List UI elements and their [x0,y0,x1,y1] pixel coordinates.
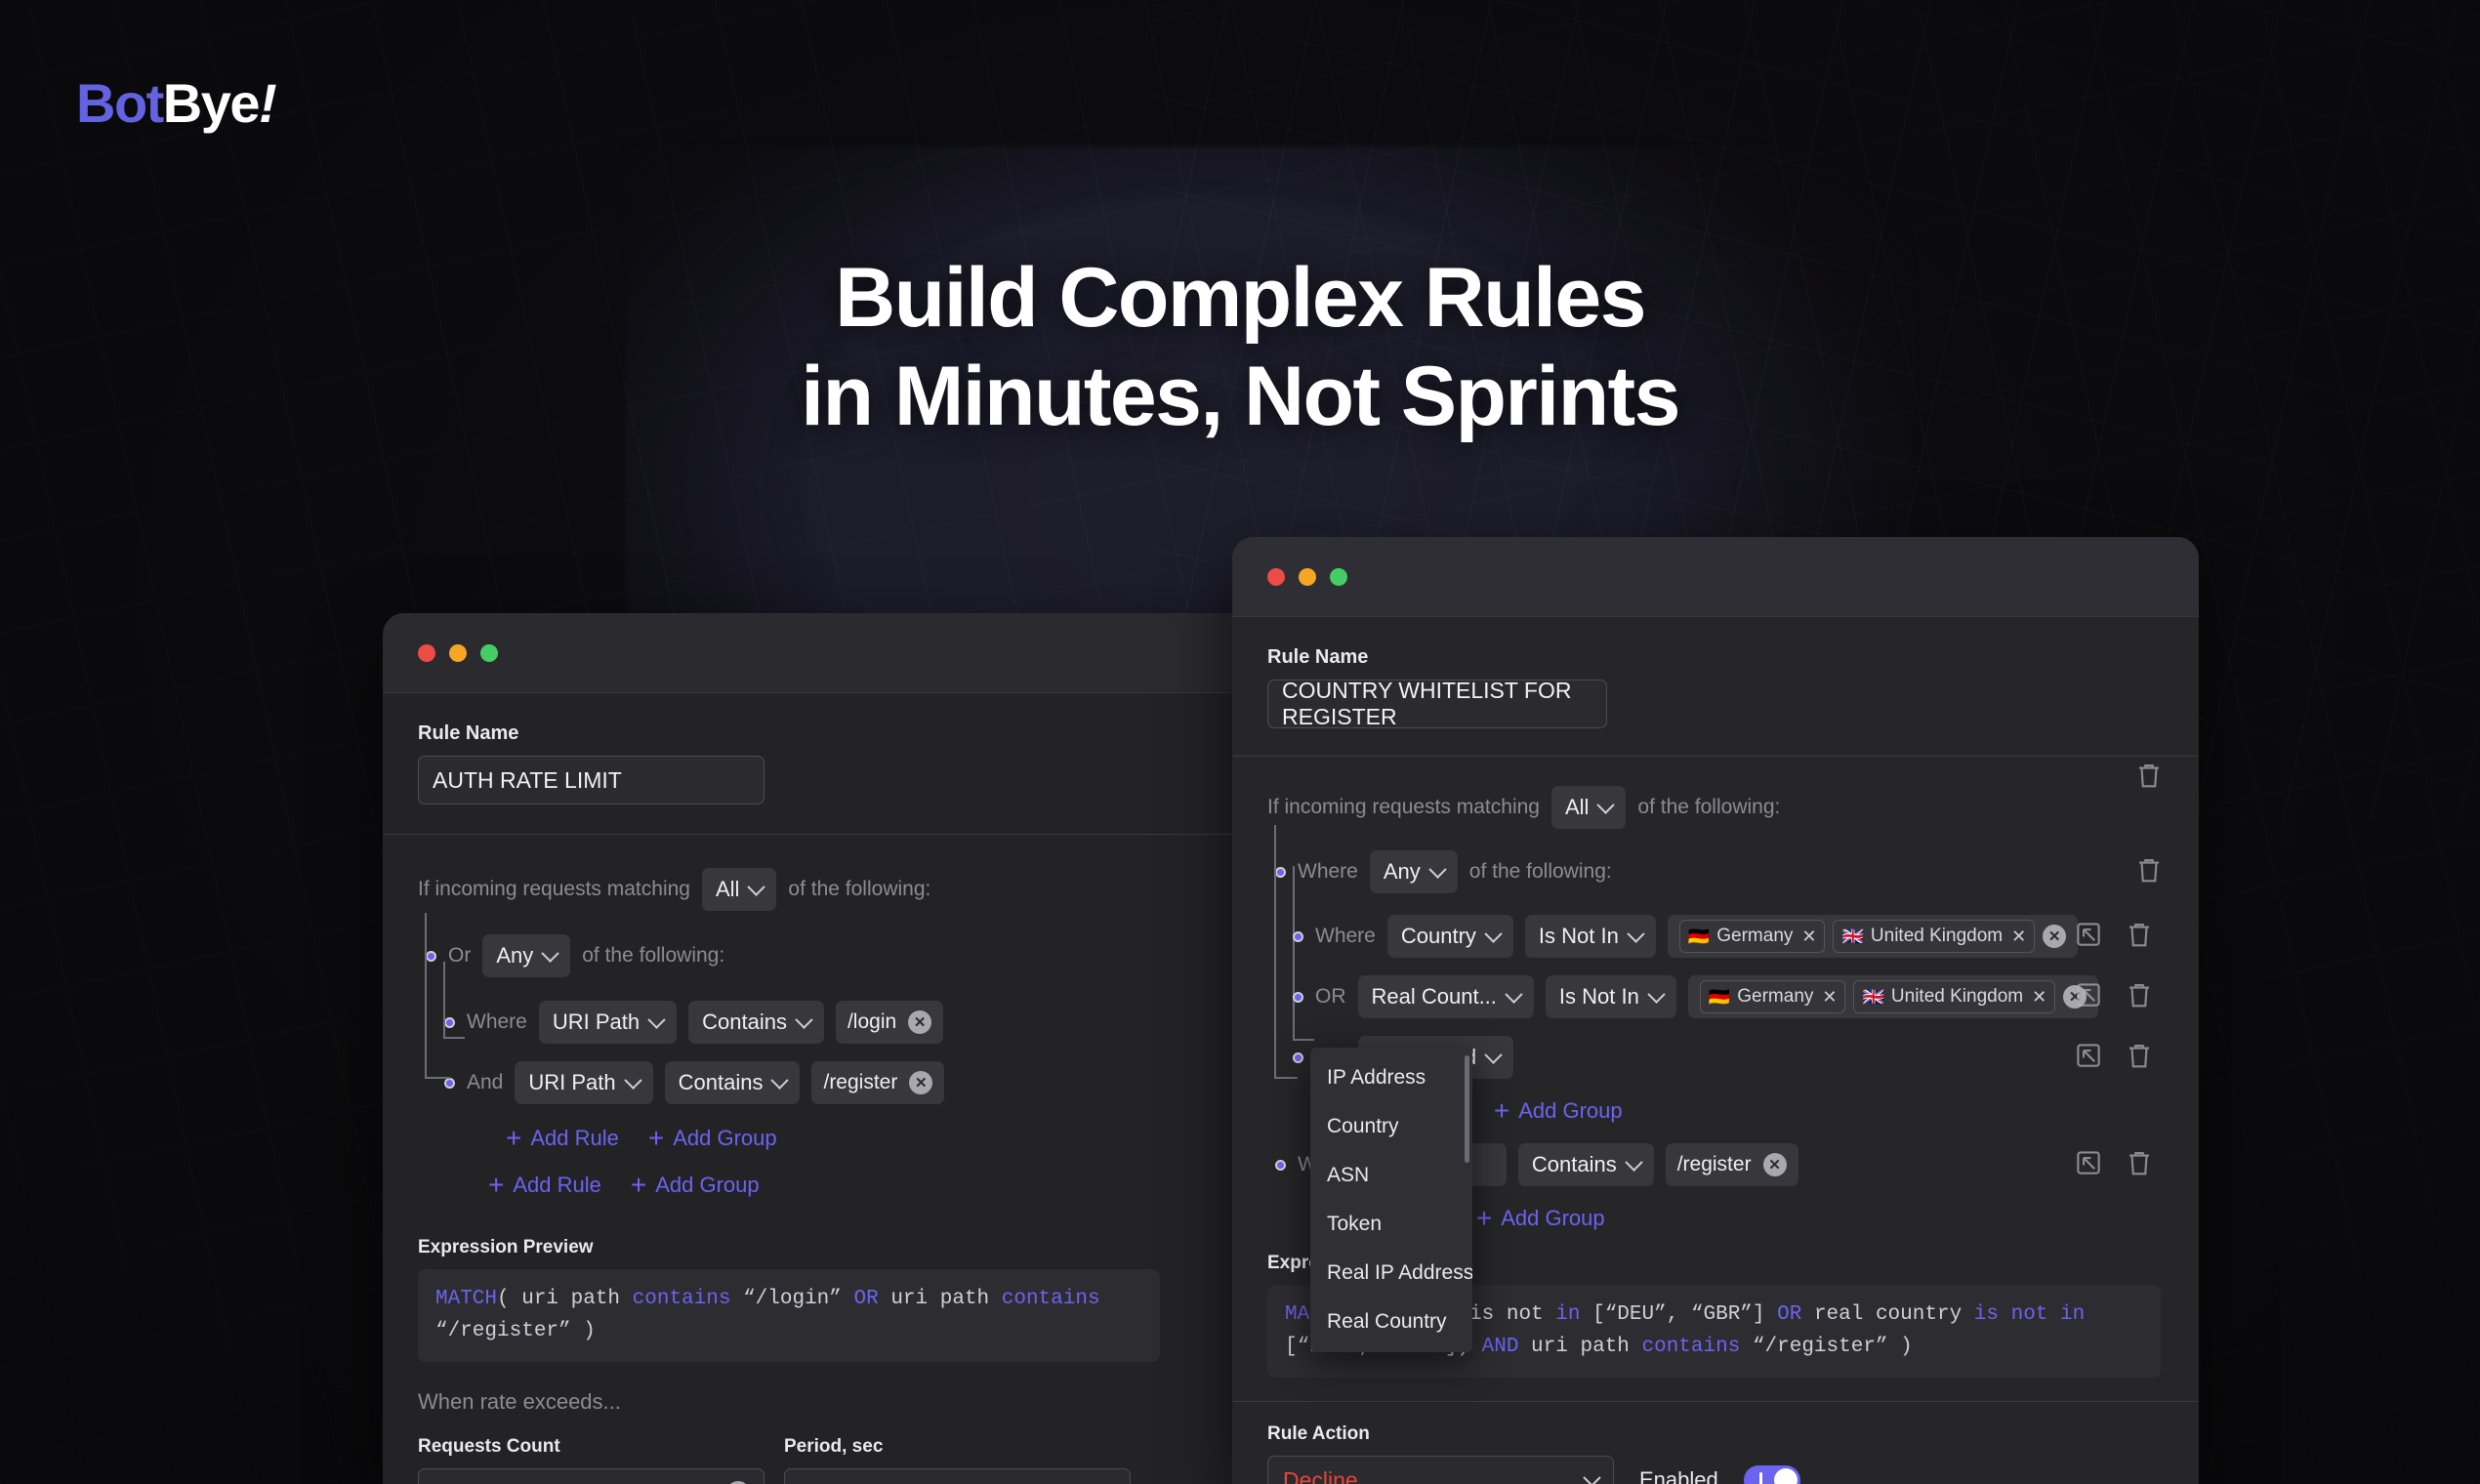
right-group-suffix: of the following: [1469,860,1612,884]
chevron-down-icon [1583,1468,1600,1484]
hero-line-1: Build Complex Rules [0,249,2480,348]
right-group-add-group-button[interactable]: + Add Group [1494,1098,1623,1124]
right-rule-action-select[interactable]: Decline [1267,1456,1614,1484]
left-requests-count-value: 5 [433,1480,445,1484]
right-enabled-label: Enabled [1639,1467,1718,1484]
chevron-down-icon [1625,1153,1642,1171]
left-rule-name-label: Rule Name [418,722,1324,745]
left-group-operator-value: Any [496,943,533,969]
expression-token: “/register” ) [1740,1336,1912,1358]
right-condition-row-1: OR Real Count... Is Not In 🇩🇪 Germany [1293,975,2164,1018]
plus-icon: + [506,1128,521,1149]
right-condition-row-0: Where Country Is Not In 🇩🇪 Germany ✕ [1293,915,2164,958]
expression-token: [“DEU”, “GBR”] [1580,1303,1777,1326]
left-condition-field-value: URI Path [528,1070,615,1095]
right-root-add-group-label: Add Group [1501,1206,1604,1231]
left-tree-root-line [425,913,427,1079]
chevron-down-icon [1484,925,1502,942]
expression-token: uri path [879,1288,1002,1310]
country-chip[interactable]: 🇬🇧 United Kingdom ✕ [1833,920,2035,953]
chevron-down-icon [1428,860,1446,878]
expression-token: contains [1641,1336,1740,1358]
left-window-body: Rule Name AUTH RATE LIMIT If incoming re… [383,693,1359,1484]
country-chip[interactable]: 🇩🇪 Germany ✕ [1679,920,1826,953]
left-condition-field-value: URI Path [553,1010,640,1035]
plus-icon: + [631,1175,646,1196]
right-rule-name-label: Rule Name [1267,646,2164,669]
window-minimize-dot[interactable] [1299,568,1316,586]
left-root-add-rule-button[interactable]: + Add Rule [488,1173,601,1198]
right-group-bullet [1275,867,1286,878]
left-tree-nested-elbow [443,1037,465,1039]
left-requests-count-input[interactable]: 5 ✕ [418,1468,765,1484]
right-outer-bullet [1275,1160,1286,1171]
remove-chip-icon[interactable]: ✕ [2032,987,2046,1008]
country-chip[interactable]: 🇬🇧 United Kingdom ✕ [1853,980,2055,1013]
right-condition-bullet [1293,992,1303,1003]
right-condition-operator-select[interactable]: Is Not In [1525,915,1656,958]
chevron-down-icon [1484,1046,1502,1063]
field-option-asn[interactable]: ASN [1310,1151,1472,1200]
right-condition-chips-box[interactable]: 🇩🇪 Germany ✕ 🇬🇧 United Kingdom ✕ ✕ [1668,915,2078,958]
left-condition-bullet [444,1078,455,1089]
right-group-operator-select[interactable]: Any [1370,850,1458,893]
left-matching-value: All [716,877,739,902]
plus-icon: + [1476,1208,1492,1229]
hero-title: Build Complex Rules in Minutes, Not Spri… [0,249,2480,445]
left-condition-row-1: And URI Path Contains /register ✕ [444,1061,1324,1104]
right-rule-name-input[interactable]: COUNTRY WHITELIST FOR REGISTER [1267,680,1607,728]
left-condition-value-box[interactable]: /login ✕ [836,1001,943,1044]
left-rate-heading: When rate exceeds... [418,1389,1324,1415]
left-rule-builder: If incoming requests matching All of the… [383,835,1359,1198]
chevron-down-icon [748,878,765,895]
right-outer-value-box[interactable]: /register ✕ [1666,1143,1798,1186]
left-group-add-rule-label: Add Rule [530,1126,619,1151]
trash-icon[interactable] [2125,980,2154,1010]
left-period-field: Period, sec 10 [784,1436,1131,1484]
left-period-label: Period, sec [784,1436,1131,1458]
right-condition-operator-value: Is Not In [1539,924,1619,949]
left-condition-field-select[interactable]: URI Path [539,1001,677,1044]
right-enabled-toggle[interactable] [1744,1465,1800,1484]
left-condition-field-select[interactable]: URI Path [515,1061,652,1104]
clear-icon[interactable]: ✕ [2043,925,2066,948]
left-group-suffix: of the following: [582,944,724,968]
trash-icon[interactable] [2125,920,2154,949]
left-root-add-group-button[interactable]: + Add Group [631,1173,760,1198]
right-rule-action-label: Rule Action [1267,1423,2164,1445]
right-outer-operator-value: Contains [1532,1152,1617,1177]
left-condition-operator-value: Contains [679,1070,764,1095]
left-group-add-rule-button[interactable]: + Add Rule [506,1126,619,1151]
field-option-token[interactable]: Token [1310,1200,1472,1249]
window-maximize-dot[interactable] [480,644,498,662]
left-requests-count-label: Requests Count [418,1436,765,1458]
right-condition-operator-value: Is Not In [1559,984,1639,1010]
left-group-add-row: + Add Rule + Add Group [506,1126,1324,1151]
window-close-dot[interactable] [418,644,435,662]
left-root-add-row: + Add Rule + Add Group [488,1173,1324,1198]
left-rate-section: When rate exceeds... Requests Count 5 ✕ … [383,1362,1359,1484]
right-condition-chips-box[interactable]: 🇩🇪 Germany ✕ 🇬🇧 United Kingdom ✕ ✕ [1688,975,2098,1018]
left-matching-row: If incoming requests matching All of the… [418,868,1324,911]
left-rule-name-input[interactable]: AUTH RATE LIMIT [418,756,765,804]
left-window-titlebar [383,613,1359,693]
right-condition-operator-select[interactable]: Is Not In [1546,975,1676,1018]
flag-icon: 🇬🇧 [1841,927,1863,945]
remove-chip-icon[interactable]: ✕ [1822,987,1837,1008]
remove-chip-icon[interactable]: ✕ [2011,927,2026,947]
nest-group-icon[interactable] [2074,920,2103,949]
left-condition-value-box[interactable]: /register ✕ [811,1061,944,1104]
flag-icon: 🇩🇪 [1688,927,1710,945]
right-rule-action-row: Decline Enabled [1267,1456,2164,1484]
left-condition-operator-value: Contains [702,1010,787,1035]
right-group-connector: Where [1298,860,1358,884]
field-option-country[interactable]: Country [1310,1102,1472,1151]
right-matching-prefix: If incoming requests matching [1267,796,1540,819]
left-matching-select[interactable]: All [702,868,776,911]
left-group-connector: Or [448,944,471,968]
right-outer-value: /register [1677,1153,1752,1176]
toggle-knob [1774,1468,1798,1484]
left-period-select[interactable]: 10 [784,1468,1131,1484]
left-group-add-group-label: Add Group [673,1126,776,1151]
left-condition-bullet [444,1017,455,1028]
expression-token: real country [1801,1303,1973,1326]
left-rule-name-section: Rule Name AUTH RATE LIMIT [383,693,1359,834]
brand-logo[interactable]: BotBye! [76,76,275,131]
chevron-down-icon [1627,925,1644,942]
chevron-down-icon [542,944,559,962]
left-group-operator-select[interactable]: Any [482,934,570,977]
chevron-down-icon [795,1010,812,1028]
right-tree-root-line [1274,825,1276,1079]
left-condition-value: /register [823,1071,897,1094]
nest-group-icon[interactable] [2074,1041,2103,1070]
right-outer-actions [2074,1148,2154,1182]
right-condition-bullet [1293,1052,1303,1063]
expression-token: “/register” ) [435,1320,596,1342]
expression-token: AND [1482,1336,1519,1358]
right-condition-field-value: Real Count... [1372,984,1497,1010]
right-condition-connector: OR [1315,985,1346,1009]
country-chip[interactable]: 🇩🇪 Germany ✕ [1700,980,1846,1013]
field-option-ip-address[interactable]: IP Address [1310,1053,1472,1102]
left-root-add-group-label: Add Group [655,1173,759,1198]
flag-icon: 🇬🇧 [1862,988,1883,1006]
left-group-bullet [426,951,436,962]
plus-icon: + [648,1128,664,1149]
dropdown-scrollbar[interactable] [1465,1055,1469,1163]
left-rule-window: Rule Name AUTH RATE LIMIT If incoming re… [383,613,1359,1484]
right-condition-field-select[interactable]: Country [1387,915,1513,958]
chevron-down-icon [1647,985,1665,1003]
field-option-real-country[interactable]: Real Country [1310,1298,1472,1346]
window-maximize-dot[interactable] [1330,568,1347,586]
right-matching-delete-button[interactable] [2134,761,2164,795]
right-group-operator-value: Any [1384,859,1421,885]
left-matching-suffix: of the following: [788,878,930,901]
left-expression-text: MATCH( uri path contains “/login” OR uri… [435,1288,1100,1342]
window-minimize-dot[interactable] [449,644,467,662]
left-condition-operator-select[interactable]: Contains [688,1001,824,1044]
expression-token: uri path [1518,1336,1641,1358]
clear-icon[interactable]: ✕ [908,1010,931,1034]
remove-chip-icon[interactable]: ✕ [1801,927,1816,947]
left-matching-prefix: If incoming requests matching [418,878,690,901]
left-rate-fields: Requests Count 5 ✕ Period, sec 10 [418,1436,1324,1484]
nest-group-icon[interactable] [2074,980,2103,1010]
right-matching-suffix: of the following: [1637,796,1780,819]
trash-icon [2134,855,2164,885]
country-chip-label: United Kingdom [1871,926,2003,947]
field-option-real-ip-address[interactable]: Real IP Address [1310,1249,1472,1298]
nest-group-icon[interactable] [2074,1148,2103,1177]
expression-token: in [1555,1303,1580,1326]
right-condition-field-select[interactable]: Real Count... [1358,975,1534,1018]
right-condition-actions-0 [2074,920,2154,954]
window-close-dot[interactable] [1267,568,1285,586]
select-field-options-menu[interactable]: IP Address Country ASN Token Real IP Add… [1310,1048,1472,1352]
expression-token: “/login” [730,1288,853,1310]
right-group-add-row: + Add Rule + Add Group [1351,1098,2164,1124]
right-group-add-group-label: Add Group [1518,1098,1622,1124]
page-root: BotBye! Build Complex Rules in Minutes, … [0,0,2480,1484]
right-matching-value: All [1565,795,1589,820]
expression-token: ( uri path [497,1288,633,1310]
left-tree-root-elbow [425,1077,450,1079]
left-condition-connector: Where [467,1010,527,1034]
chevron-down-icon [771,1071,789,1089]
chevron-down-icon [624,1071,641,1089]
right-outer-operator-select[interactable]: Contains [1518,1143,1654,1186]
expression-token: contains [1002,1288,1100,1310]
right-rule-name-section: Rule Name COUNTRY WHITELIST FOR REGISTER [1232,617,2199,756]
trash-icon[interactable] [2125,1148,2154,1177]
expression-token: contains [633,1288,731,1310]
clear-icon[interactable]: ✕ [909,1071,932,1094]
flag-icon: 🇩🇪 [1709,988,1730,1006]
chevron-down-icon [647,1010,665,1028]
left-tree-nested-line [443,962,445,1038]
hero-line-2: in Minutes, Not Sprints [0,348,2480,446]
right-matching-row: If incoming requests matching All of the… [1267,786,2164,829]
brand-logo-part3: ! [259,72,275,134]
plus-icon: + [488,1175,504,1196]
left-expression-section: Expression Preview MATCH( uri path conta… [383,1198,1359,1362]
left-root-add-rule-label: Add Rule [513,1173,601,1198]
left-expression-preview: MATCH( uri path contains “/login” OR uri… [418,1269,1160,1362]
chevron-down-icon [1505,985,1522,1003]
left-condition-value: /login [847,1010,896,1034]
expression-token: OR [854,1288,879,1310]
country-chip-label: Germany [1716,926,1793,947]
trash-icon [2134,761,2164,790]
plus-icon: + [1494,1100,1509,1122]
right-condition-connector: Where [1315,925,1376,948]
left-expression-label: Expression Preview [418,1237,1324,1258]
country-chip-label: United Kingdom [1891,986,2023,1008]
right-condition-field-value: Country [1401,924,1476,949]
trash-icon[interactable] [2125,1041,2154,1070]
country-chip-label: Germany [1737,986,1813,1008]
left-period-value: 10 [800,1480,825,1484]
toggle-bar-icon [1759,1472,1762,1484]
left-group-add-group-button[interactable]: + Add Group [648,1126,777,1151]
expression-token: OR [1777,1303,1801,1326]
right-matching-select[interactable]: All [1551,786,1626,829]
right-window-titlebar [1232,537,2199,617]
expression-token: is not in [1974,1303,2085,1326]
expression-token: MATCH [435,1288,497,1310]
right-root-add-group-button[interactable]: + Add Group [1476,1206,1605,1231]
right-rule-action-section: Rule Action Decline Enabled [1232,1402,2199,1484]
left-condition-connector: And [467,1071,503,1094]
right-condition-actions-1 [2074,980,2154,1014]
right-group-delete-button[interactable] [2134,855,2164,889]
left-group-header: Or Any of the following: [426,934,1324,977]
right-group-header: Where Any of the following: [1275,850,2164,893]
clear-icon[interactable]: ✕ [1763,1153,1787,1176]
right-condition-bullet [1293,931,1303,942]
left-condition-row-0: Where URI Path Contains /login ✕ [444,1001,1324,1044]
brand-logo-part2: Bye [163,72,259,134]
right-condition-actions-2 [2074,1041,2154,1075]
right-rule-action-value: Decline [1283,1467,1358,1484]
chevron-down-icon [1597,796,1615,813]
brand-logo-part1: Bot [76,72,163,134]
left-requests-count-field: Requests Count 5 ✕ [418,1436,765,1484]
left-condition-operator-select[interactable]: Contains [665,1061,801,1104]
